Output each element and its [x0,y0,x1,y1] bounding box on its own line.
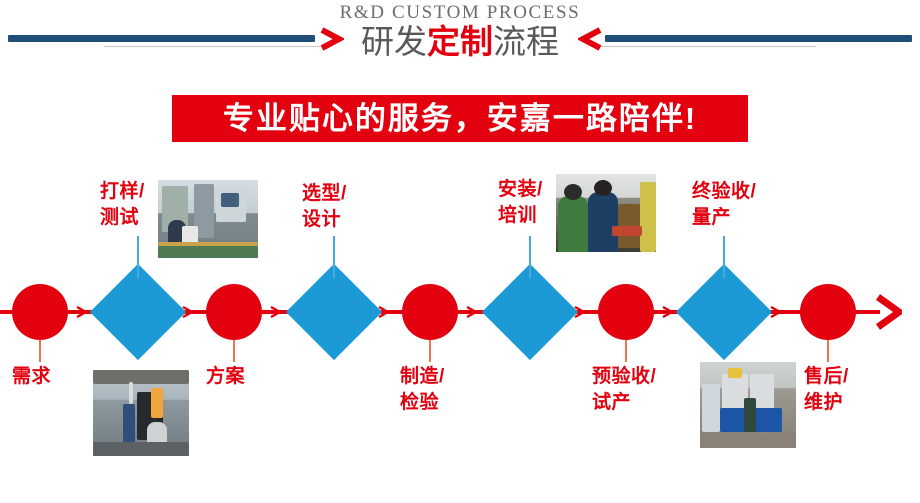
flow-label-8-line1: 终验收/ [692,180,756,204]
flow-stem-5 [429,340,431,362]
flow-label-5-line2: 检验 [400,391,439,415]
flow-label-1: 需求 [12,365,51,389]
flow-stem-7 [625,340,627,362]
process-infographic: R&D CUSTOM PROCESS 研发定制流程 专业贴心的服务，安嘉一路陪伴… [0,0,920,503]
flow-stem-2 [137,236,139,278]
flow-label-4-line2: 设计 [302,208,341,232]
header-title-pre: 研发 [361,23,427,60]
flow-stem-9 [827,340,829,362]
photo-prototype-testing [158,180,258,258]
flow-label-6-line1: 安装/ [498,178,543,202]
flow-node-circle-7[interactable] [598,284,654,340]
flow-label-7-line2: 试产 [592,391,631,415]
photo-after-sales [700,362,796,448]
flow-label-7-line1: 预验收/ [592,365,656,389]
flow-arrowhead-3 [270,306,282,318]
flow-label-3: 方案 [206,365,245,389]
flow-node-diamond-8[interactable] [676,264,772,360]
header-title-post: 流程 [493,23,559,60]
flow-node-circle-9[interactable] [800,284,856,340]
header-title-emphasis: 定制 [427,23,493,60]
slogan-text: 专业贴心的服务，安嘉一路陪伴! [223,95,697,142]
flow-stem-4 [333,236,335,278]
photo-manufacturing [93,370,189,456]
flow-arrowhead-7 [662,306,674,318]
photo-installation-training [556,174,656,252]
flow-label-9-line2: 维护 [804,391,843,415]
flow-node-diamond-6[interactable] [482,264,578,360]
flow-arrowhead-1 [76,306,88,318]
flow-node-diamond-4[interactable] [286,264,382,360]
flow-stem-3 [233,340,235,362]
flow-label-5-line1: 制造/ [400,365,445,389]
arrow-right-icon [858,294,902,330]
flow-node-circle-5[interactable] [402,284,458,340]
flow-node-diamond-2[interactable] [90,264,186,360]
flow-arrowhead-5 [466,306,478,318]
flow-label-4-line1: 选型/ [302,182,347,206]
slogan-banner: 专业贴心的服务，安嘉一路陪伴! [172,95,748,142]
flow-label-2-line1: 打样/ [100,180,145,204]
header-english-title: R&D CUSTOM PROCESS [0,2,920,24]
flow-label-9-line1: 售后/ [804,365,849,389]
flow-stem-6 [529,236,531,278]
flow-label-8-line2: 量产 [692,206,731,230]
flow-node-circle-3[interactable] [206,284,262,340]
flow-stem-8 [723,236,725,278]
flow-stem-1 [39,340,41,362]
flow-label-2-line2: 测试 [100,206,139,230]
header-chinese-title: 研发定制流程 [0,22,920,62]
flow-node-circle-1[interactable] [12,284,68,340]
flow-label-6-line2: 培训 [498,204,537,228]
